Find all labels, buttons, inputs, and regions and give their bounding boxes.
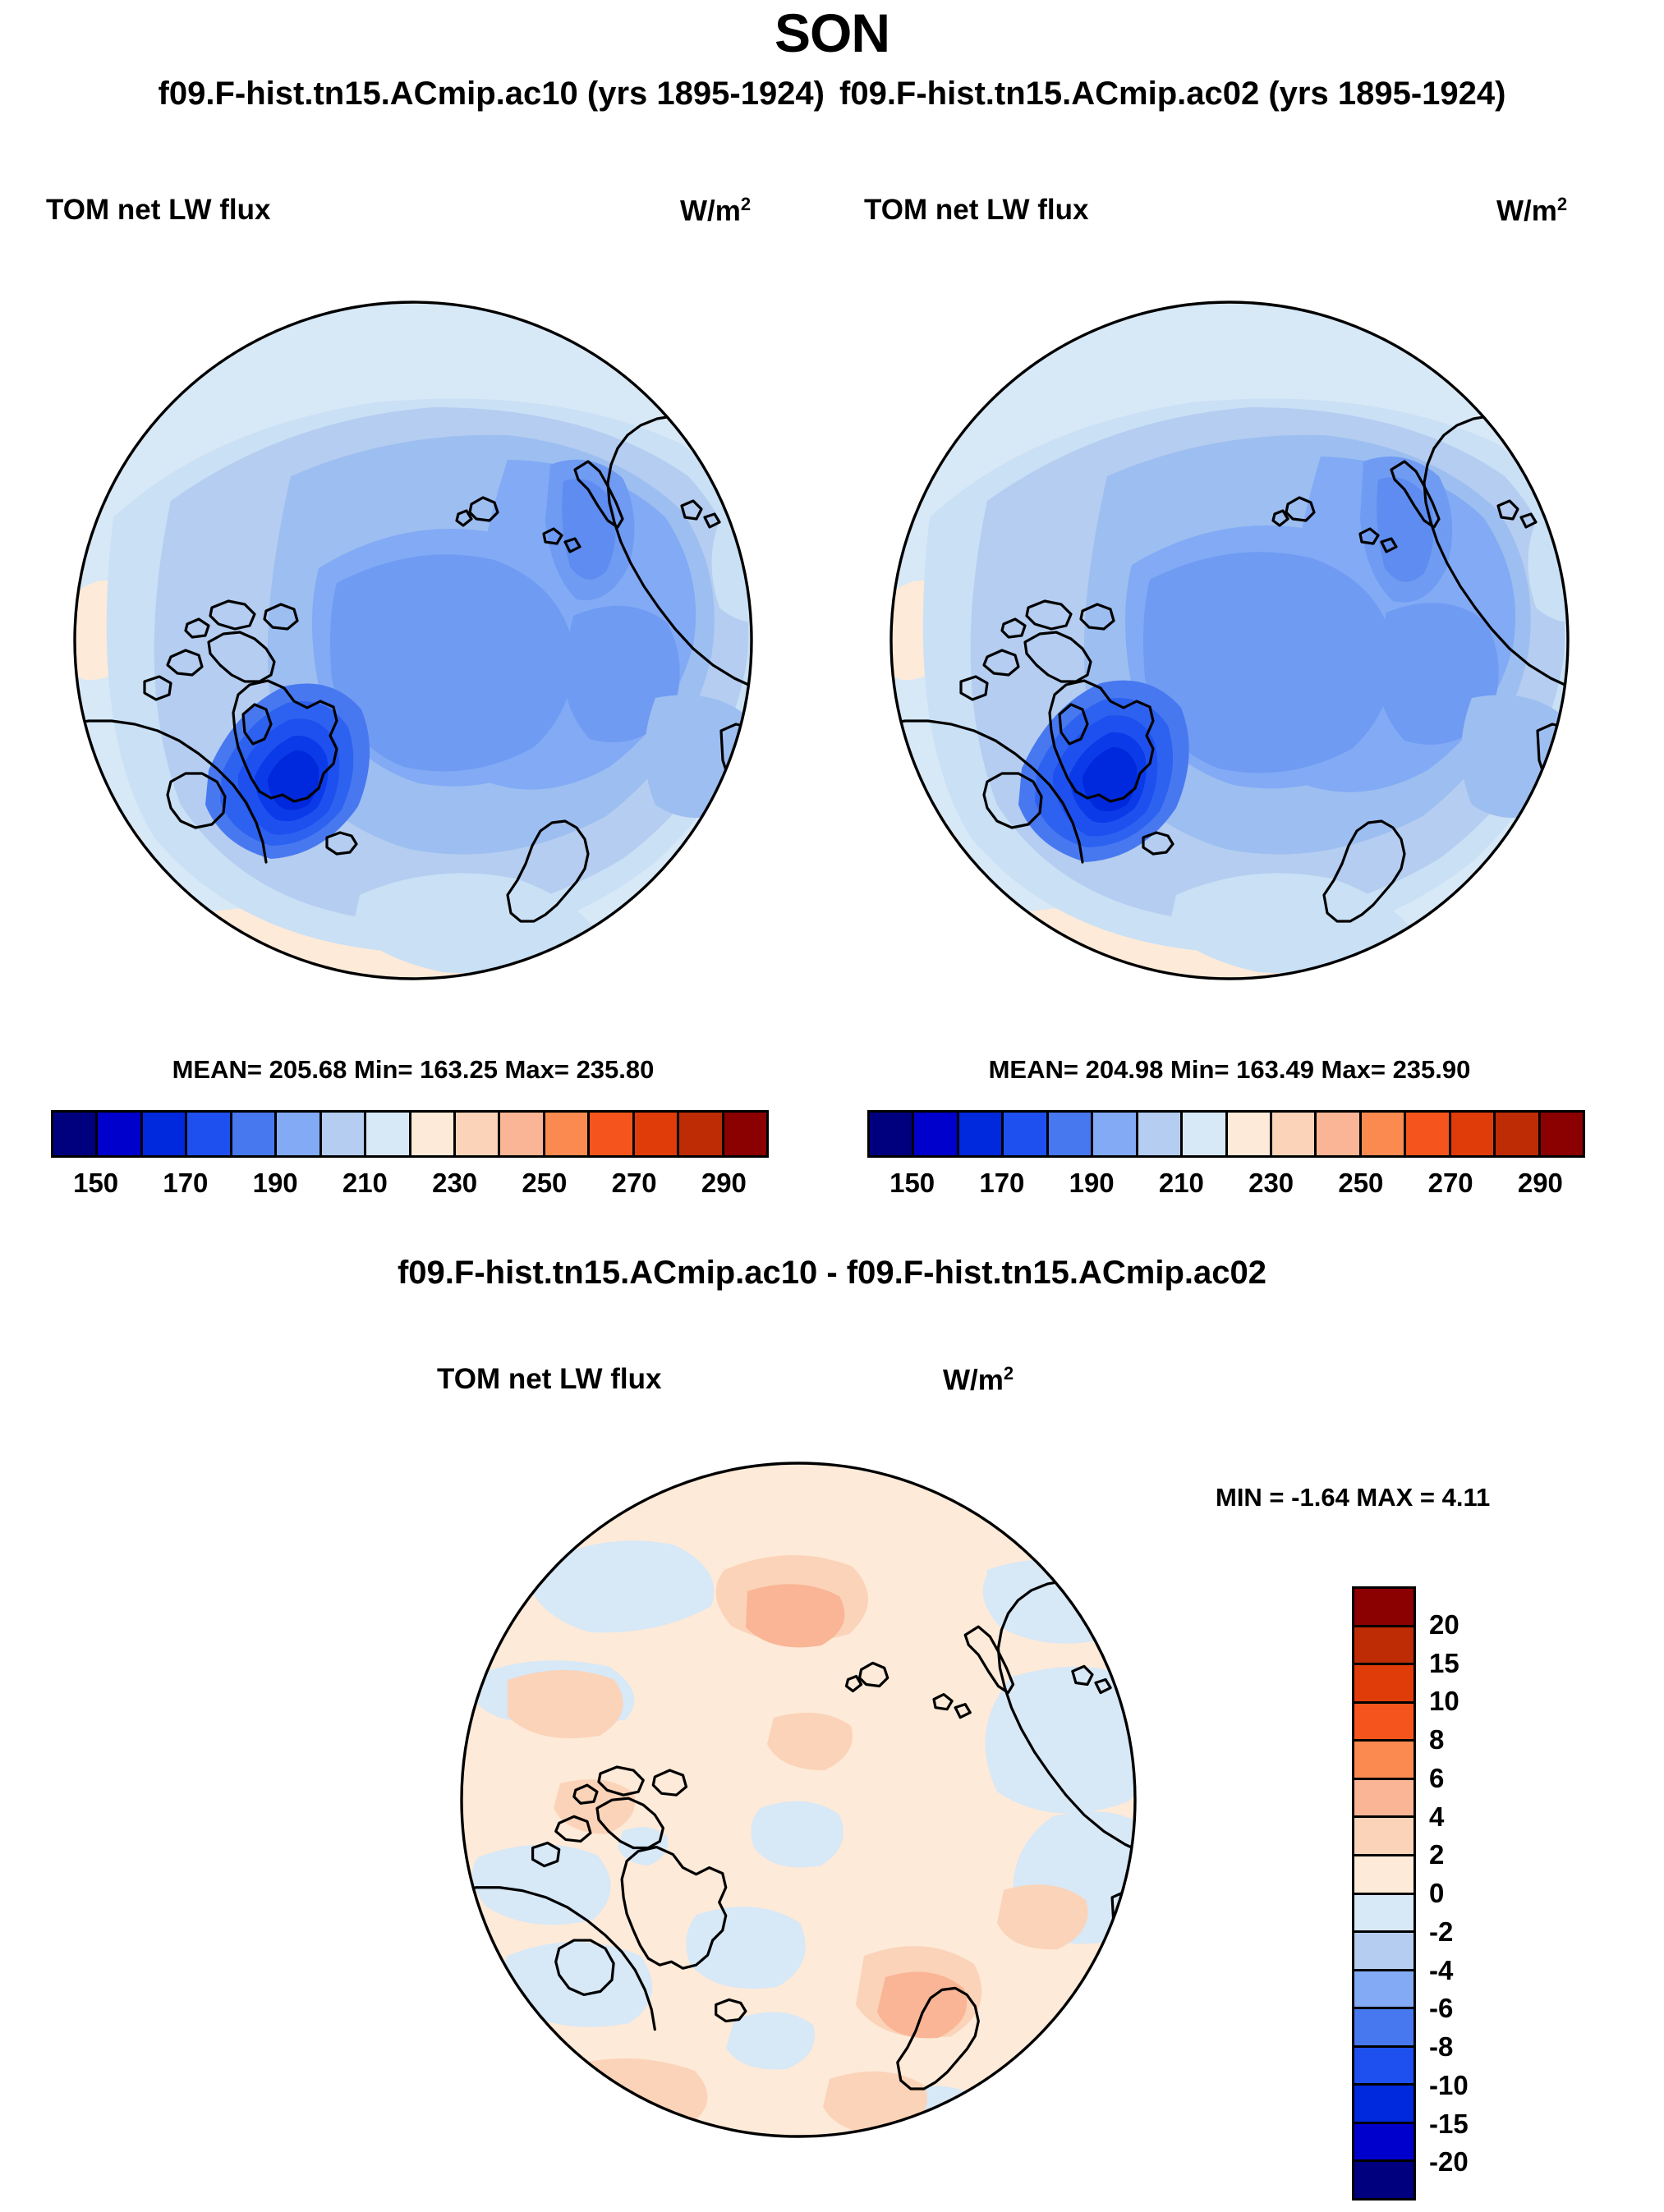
- colorbar-tick-label: 190: [1069, 1168, 1115, 1199]
- colorbar-cell: [1354, 1933, 1413, 1971]
- right-panel-variable-label: TOM net LW flux: [864, 194, 1089, 227]
- colorbar-tick-label: 150: [73, 1168, 118, 1199]
- subtitle-row: f09.F-hist.tn15.ACmip.ac10 (yrs 1895-192…: [0, 76, 1664, 112]
- colorbar-cell: [456, 1113, 500, 1155]
- right-panel-stats: MEAN= 204.98 Min= 163.49 Max= 235.90: [864, 1055, 1595, 1085]
- colorbar-cell: [1354, 1704, 1413, 1742]
- colorbar-cell: [1354, 1665, 1413, 1704]
- colorbar-cell: [1354, 1971, 1413, 2010]
- colorbar-cell: [724, 1113, 766, 1155]
- colorbar-cell: [98, 1113, 142, 1155]
- colorbar-tick-label: -4: [1429, 1955, 1453, 1986]
- colorbar-cell: [277, 1113, 321, 1155]
- colorbar-cell: [1272, 1113, 1317, 1155]
- colorbar-cell: [545, 1113, 590, 1155]
- colorbar-tick-label: 230: [432, 1168, 477, 1199]
- colorbar-tick-label: 210: [1159, 1168, 1204, 1199]
- colorbar-tick-label: 0: [1429, 1878, 1444, 1909]
- colorbar-tick-label: 230: [1248, 1168, 1294, 1199]
- difference-title: f09.F-hist.tn15.ACmip.ac10 - f09.F-hist.…: [0, 1255, 1664, 1292]
- subtitle-left: f09.F-hist.tn15.ACmip.ac10 (yrs 1895-192…: [159, 76, 825, 112]
- colorbar-cell: [1354, 1589, 1413, 1627]
- colorbar-tick-label: -6: [1429, 1993, 1453, 2024]
- diff-minmax-label: MIN = -1.64 MAX = 4.11: [1216, 1483, 1490, 1512]
- colorbar-cell: [914, 1113, 958, 1155]
- left-colorbar: 150170190210230250270290: [51, 1110, 769, 1204]
- colorbar-cell: [1406, 1113, 1450, 1155]
- colorbar-tick-label: 270: [1428, 1168, 1473, 1199]
- colorbar-cell: [1354, 1895, 1413, 1934]
- colorbar-cell: [1317, 1113, 1361, 1155]
- colorbar-cell: [1354, 1627, 1413, 1666]
- colorbar-tick-label: 290: [1518, 1168, 1563, 1199]
- colorbar-cell: [411, 1113, 456, 1155]
- left-panel-variable-label: TOM net LW flux: [46, 194, 271, 227]
- figure-canvas: SON f09.F-hist.tn15.ACmip.ac10 (yrs 1895…: [0, 0, 1664, 2212]
- colorbar-cell: [1354, 1856, 1413, 1895]
- colorbar-tick-label: 8: [1429, 1724, 1444, 1755]
- colorbar-cell: [1228, 1113, 1272, 1155]
- left-panel-map: [48, 271, 779, 1010]
- diff-panel-variable-label: TOM net LW flux: [437, 1363, 662, 1396]
- colorbar-cell: [187, 1113, 232, 1155]
- colorbar-tick-label: 170: [163, 1168, 208, 1199]
- colorbar-tick-label: 2: [1429, 1839, 1444, 1870]
- diff-panel-units: W/m2: [943, 1363, 1014, 1397]
- colorbar-tick-label: 250: [1338, 1168, 1383, 1199]
- colorbar-cell: [143, 1113, 187, 1155]
- colorbar-tick-label: 10: [1429, 1686, 1459, 1717]
- colorbar-tick-label: 4: [1429, 1801, 1444, 1833]
- subtitle-right: f09.F-hist.tn15.ACmip.ac02 (yrs 1895-192…: [839, 76, 1505, 112]
- difference-colorbar-labels: 20151086420-2-4-6-8-10-15-20: [1429, 1586, 1585, 2201]
- colorbar-cell: [1138, 1113, 1183, 1155]
- figure-title: SON: [0, 2, 1664, 64]
- colorbar-tick-label: 20: [1429, 1609, 1459, 1641]
- colorbar-cell: [1354, 2048, 1413, 2086]
- colorbar-cell: [1354, 1818, 1413, 1856]
- diff-panel-map: [429, 1430, 1168, 2169]
- colorbar-tick-label: -2: [1429, 1916, 1453, 1948]
- colorbar-cell: [959, 1113, 1004, 1155]
- colorbar-cell: [590, 1113, 634, 1155]
- colorbar-tick-label: 290: [701, 1168, 747, 1199]
- colorbar-cell: [1362, 1113, 1406, 1155]
- colorbar-tick-label: -20: [1429, 2146, 1469, 2178]
- colorbar-tick-label: 210: [342, 1168, 388, 1199]
- colorbar-cell: [1354, 2009, 1413, 2048]
- colorbar-cell: [1183, 1113, 1227, 1155]
- colorbar-tick-label: 190: [253, 1168, 298, 1199]
- right-colorbar: 150170190210230250270290: [867, 1110, 1585, 1204]
- colorbar-tick-label: 15: [1429, 1648, 1459, 1679]
- colorbar-tick-label: 270: [612, 1168, 657, 1199]
- colorbar-cell: [870, 1113, 914, 1155]
- colorbar-tick-label: 6: [1429, 1763, 1444, 1794]
- colorbar-tick-label: -10: [1429, 2070, 1469, 2101]
- colorbar-cell: [1049, 1113, 1093, 1155]
- colorbar-cell: [1354, 1780, 1413, 1819]
- left-panel-units: W/m2: [680, 194, 751, 228]
- colorbar-cell: [1093, 1113, 1138, 1155]
- colorbar-tick-label: 150: [889, 1168, 935, 1199]
- colorbar-cell: [1354, 2086, 1413, 2124]
- colorbar-cell: [1004, 1113, 1048, 1155]
- right-panel-units: W/m2: [1496, 194, 1567, 228]
- colorbar-cell: [1451, 1113, 1496, 1155]
- right-panel-map: [864, 271, 1595, 1010]
- colorbar-cell: [322, 1113, 366, 1155]
- colorbar-tick-label: -8: [1429, 2031, 1453, 2063]
- colorbar-tick-label: 170: [979, 1168, 1024, 1199]
- colorbar-cell: [679, 1113, 724, 1155]
- colorbar-cell: [1496, 1113, 1540, 1155]
- colorbar-cell: [53, 1113, 98, 1155]
- colorbar-cell: [232, 1113, 277, 1155]
- colorbar-tick-label: 250: [522, 1168, 567, 1199]
- colorbar-cell: [366, 1113, 411, 1155]
- difference-colorbar: [1352, 1586, 1416, 2201]
- colorbar-cell: [500, 1113, 545, 1155]
- colorbar-cell: [1541, 1113, 1583, 1155]
- colorbar-cell: [1354, 2124, 1413, 2163]
- left-panel-stats: MEAN= 205.68 Min= 163.25 Max= 235.80: [48, 1055, 779, 1085]
- colorbar-cell: [635, 1113, 679, 1155]
- colorbar-tick-label: -15: [1429, 2109, 1469, 2140]
- colorbar-cell: [1354, 1742, 1413, 1780]
- colorbar-cell: [1354, 2162, 1413, 2198]
